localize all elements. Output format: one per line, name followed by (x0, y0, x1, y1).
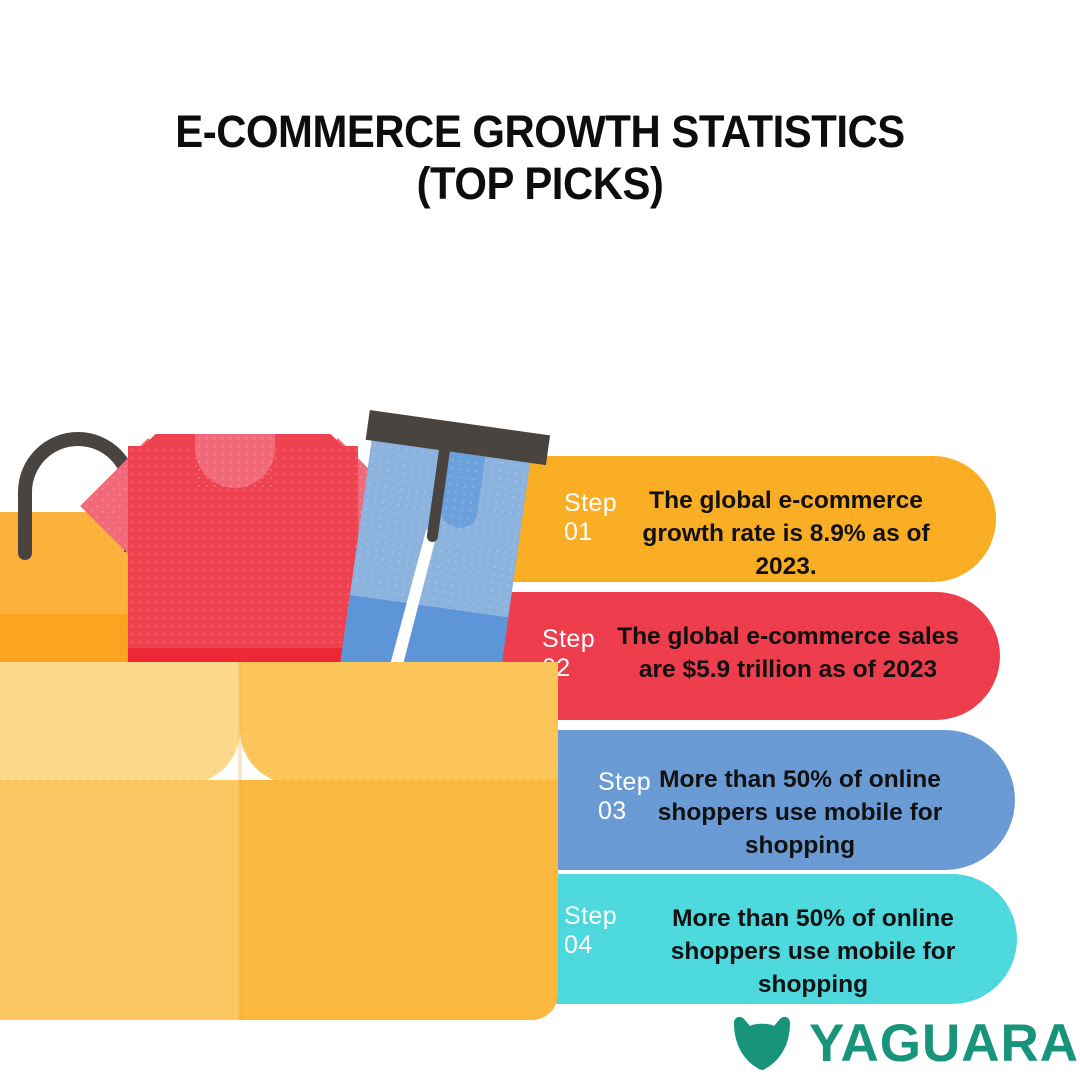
box-flap-left (0, 662, 240, 784)
page-title-line-2: (TOP PICKS) (38, 158, 1042, 210)
box-front-left (0, 780, 240, 1020)
page-title: E-COMMERCE GROWTH STATISTICS (TOP PICKS) (38, 106, 1042, 210)
brand-logo[interactable]: YAGUARA (731, 1012, 1061, 1074)
box-seam (238, 662, 242, 1020)
infographic-canvas: E-COMMERCE GROWTH STATISTICS (TOP PICKS)… (0, 0, 1080, 1080)
step-text-04: More than 50% of online shoppers use mob… (620, 902, 1006, 1001)
step-text-02: The global e-commerce sales are $5.9 tri… (600, 620, 976, 686)
jaguar-head-icon (731, 1015, 793, 1071)
ecommerce-illustration (0, 400, 600, 1080)
box-flap-right (240, 662, 558, 784)
page-title-line-1: E-COMMERCE GROWTH STATISTICS (38, 106, 1042, 158)
box-front-right (240, 780, 558, 1020)
brand-name: YAGUARA (809, 1017, 1079, 1070)
shipping-box-icon (0, 662, 580, 1080)
step-text-03: More than 50% of online shoppers use mob… (605, 763, 995, 862)
step-text-01: The global e-commerce growth rate is 8.9… (610, 484, 962, 582)
shopping-bag-handle-cap (18, 530, 32, 560)
jeans-icon (340, 411, 535, 691)
